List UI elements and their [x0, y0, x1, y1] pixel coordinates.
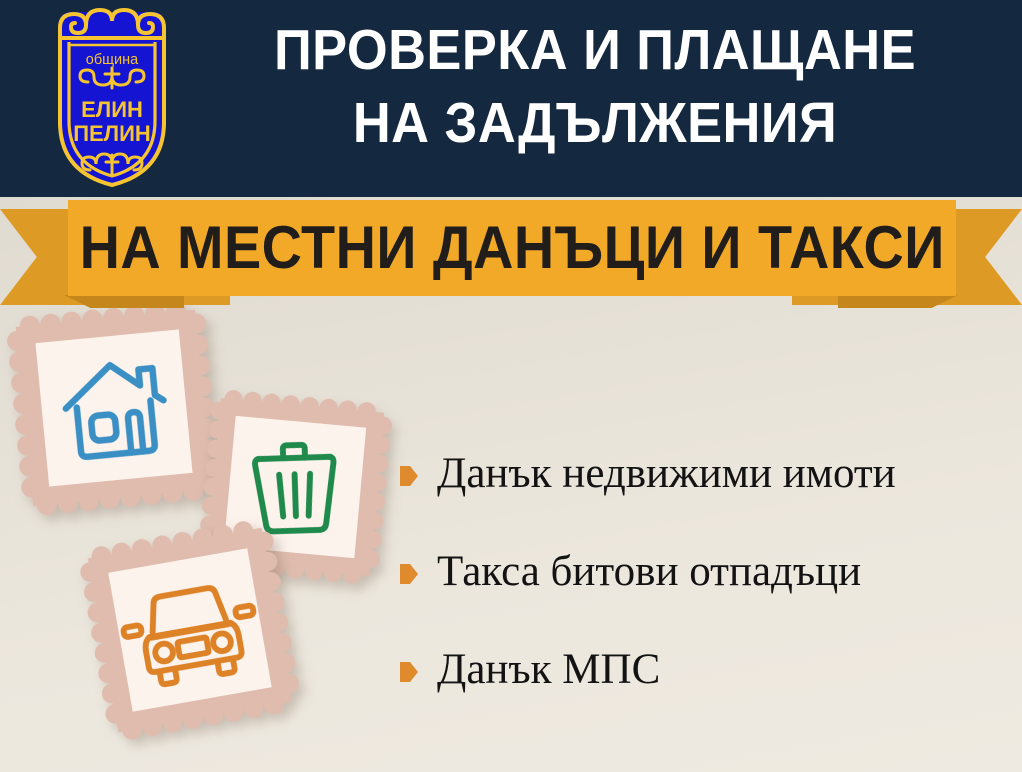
logo-word-elin: ЕЛИН	[81, 97, 143, 122]
municipality-logo: община ЕЛИН ПЕЛИН	[38, 4, 186, 189]
list-item-label: Данък МПС	[437, 647, 660, 693]
ribbon-band: НА МЕСТНИ ДАНЪЦИ И ТАКСИ	[68, 200, 956, 296]
ribbon-fold-right	[838, 295, 958, 308]
stamp-group	[0, 300, 420, 772]
logo-word-obshtina: община	[86, 52, 139, 68]
arrow-bullet-icon	[400, 660, 418, 684]
list-item[interactable]: Данък МПС	[400, 621, 1015, 719]
arrow-bullet-icon	[400, 464, 418, 488]
tax-type-list: Данък недвижими имоти Такса битови отпад…	[400, 425, 1015, 719]
stamp-vehicle-tax	[76, 516, 303, 743]
list-item-label: Данък недвижими имоти	[437, 451, 896, 497]
poster: ПРОВЕРКА И ПЛАЩАНЕ НА ЗАДЪЛЖЕНИЯ община	[0, 0, 1022, 772]
ribbon-label: НА МЕСТНИ ДАНЪЦИ И ТАКСИ	[79, 218, 944, 278]
stamp-real-estate	[5, 299, 223, 517]
ribbon-fold-left	[64, 295, 184, 308]
list-item[interactable]: Такса битови отпадъци	[400, 523, 1015, 621]
list-item[interactable]: Данък недвижими имоти	[400, 425, 1015, 523]
list-item-label: Такса битови отпадъци	[437, 549, 861, 595]
ribbon-banner: НА МЕСТНИ ДАНЪЦИ И ТАКСИ	[0, 196, 1022, 308]
logo-word-pelin: ПЕЛИН	[73, 121, 151, 146]
page-title: ПРОВЕРКА И ПЛАЩАНЕ НА ЗАДЪЛЖЕНИЯ	[213, 14, 977, 160]
arrow-bullet-icon	[400, 562, 418, 586]
